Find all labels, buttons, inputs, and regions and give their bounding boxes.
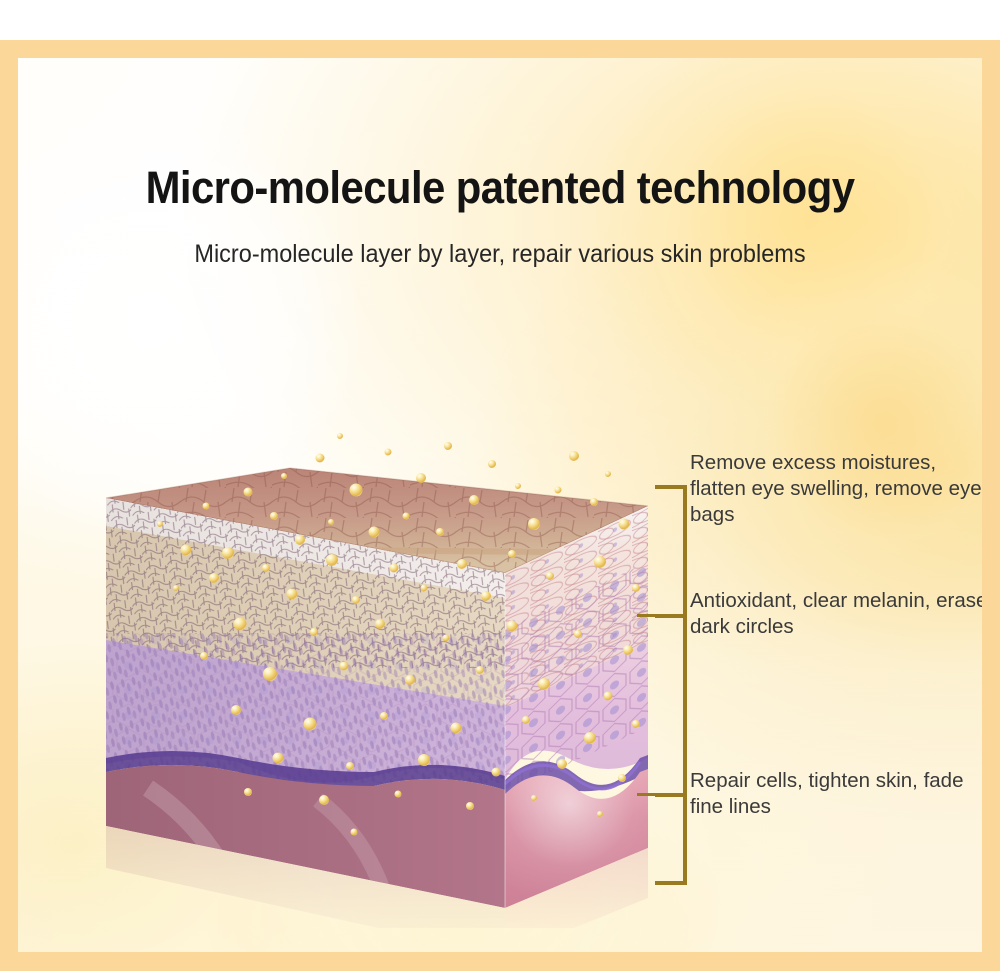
bracket-tick-bottom (655, 881, 687, 885)
glow-highlight-topright (578, 58, 982, 408)
bracket-tick-mid-one (655, 614, 687, 618)
annotation-antioxidant: Antioxidant, clear melanin, erase dark c… (690, 588, 982, 640)
promo-banner: Micro-molecule patented technology Micro… (0, 0, 1000, 971)
page-title: Micro-molecule patented technology (52, 162, 949, 214)
bracket-lead-line-one (637, 614, 659, 617)
bracket-tick-mid-two (655, 793, 687, 797)
annotation-repair-cells: Repair cells, tighten skin, fade fine li… (690, 768, 982, 820)
skin-cross-section-diagram (88, 428, 648, 928)
content-canvas: Micro-molecule patented technology Micro… (18, 58, 982, 952)
annotation-remove-moisture: Remove excess moistures, flatten eye swe… (690, 450, 982, 528)
bracket-tick-top (655, 485, 687, 489)
page-subtitle: Micro-molecule layer by layer, repair va… (47, 240, 953, 269)
bracket-spine (683, 485, 687, 885)
skin-cube-svg (88, 428, 648, 928)
annotation-brackets (637, 468, 697, 893)
glow-highlight-right (718, 258, 982, 588)
bracket-lead-line-two (637, 793, 659, 796)
